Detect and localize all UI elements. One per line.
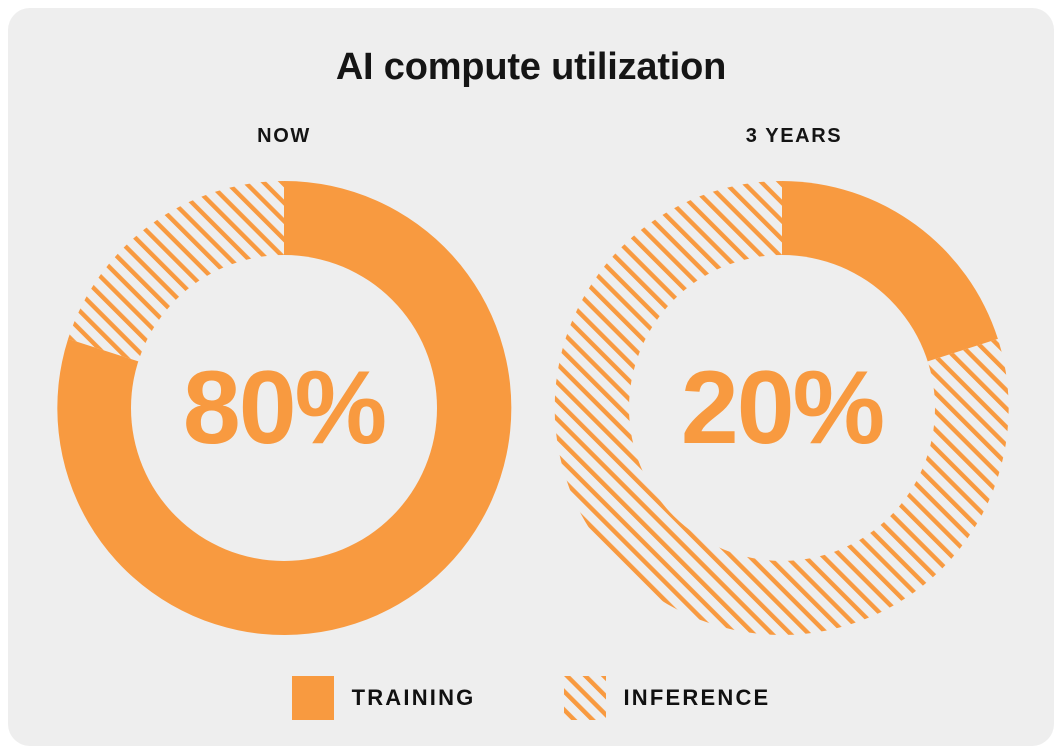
legend-swatch-hatched-icon bbox=[564, 676, 606, 720]
donut-now-svg bbox=[49, 173, 519, 643]
legend-label-inference: INFERENCE bbox=[624, 685, 771, 711]
legend-swatch-solid-icon bbox=[292, 676, 334, 720]
legend-item-training: TRAINING bbox=[292, 676, 476, 720]
donut-hole-three-years bbox=[629, 255, 935, 561]
legend-item-inference: INFERENCE bbox=[564, 676, 771, 720]
page-title: AI compute utilization bbox=[8, 46, 1054, 89]
donut-hole-now bbox=[131, 255, 437, 561]
panel-label-three-years: 3 YEARS bbox=[644, 125, 944, 148]
hatch-pattern-icon bbox=[564, 676, 606, 720]
donut-chart-three-years: 20% bbox=[547, 173, 1017, 643]
chart-legend: TRAINING INFERENCE bbox=[8, 676, 1054, 720]
panel-label-now: NOW bbox=[134, 125, 434, 148]
donut-chart-now: 80% bbox=[49, 173, 519, 643]
donut-three-years-svg bbox=[547, 173, 1017, 643]
chart-card: AI compute utilization NOW 3 YEARS 80% bbox=[8, 8, 1054, 746]
legend-label-training: TRAINING bbox=[352, 685, 476, 711]
